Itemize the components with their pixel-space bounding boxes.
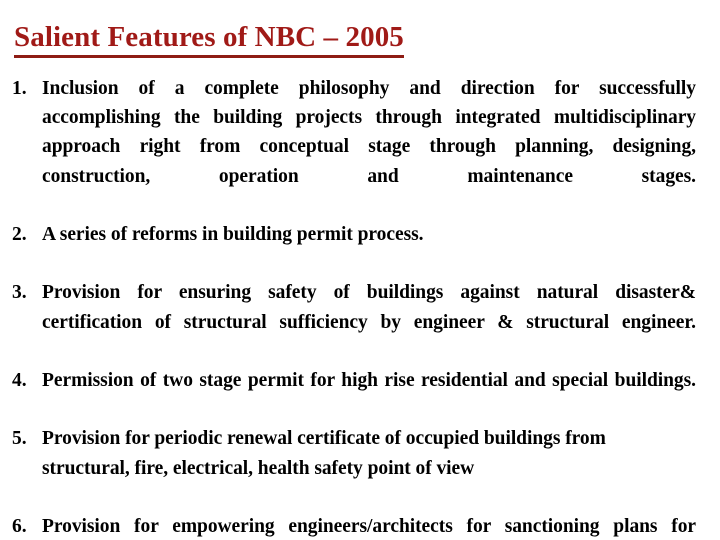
list-item-marker: 2.: [12, 220, 38, 249]
list-item: 4. Permission of two stage permit for hi…: [10, 366, 696, 424]
list-item-text: Permission of two stage permit for high …: [42, 366, 696, 424]
list-item-text: Provision for empowering engineers/archi…: [42, 512, 696, 540]
list-item-text: Provision for ensuring safety of buildin…: [42, 278, 696, 366]
list-item: 3. Provision for ensuring safety of buil…: [10, 278, 696, 366]
list-item-text: Inclusion of a complete philosophy and d…: [42, 74, 696, 220]
list-item: 2. A series of reforms in building permi…: [10, 220, 696, 278]
list-item-marker: 3.: [12, 278, 38, 307]
list-item: 1. Inclusion of a complete philosophy an…: [10, 74, 696, 220]
list-item-text: Provision for periodic renewal certifica…: [42, 424, 696, 512]
list-item-text: A series of reforms in building permit p…: [42, 220, 696, 278]
page-title-text: Salient Features of NBC – 2005: [14, 22, 404, 58]
list-item: 5. Provision for periodic renewal certif…: [10, 424, 696, 512]
salient-features-list: 1. Inclusion of a complete philosophy an…: [10, 74, 696, 540]
list-item-marker: 1.: [12, 74, 38, 103]
slide-canvas: Salient Features of NBC – 2005 1. Inclus…: [0, 0, 720, 540]
list-item: 6. Provision for empowering engineers/ar…: [10, 512, 696, 540]
page-title: Salient Features of NBC – 2005: [14, 22, 706, 58]
list-item-marker: 6.: [12, 512, 38, 540]
list-item-marker: 4.: [12, 366, 38, 395]
list-item-marker: 5.: [12, 424, 38, 453]
